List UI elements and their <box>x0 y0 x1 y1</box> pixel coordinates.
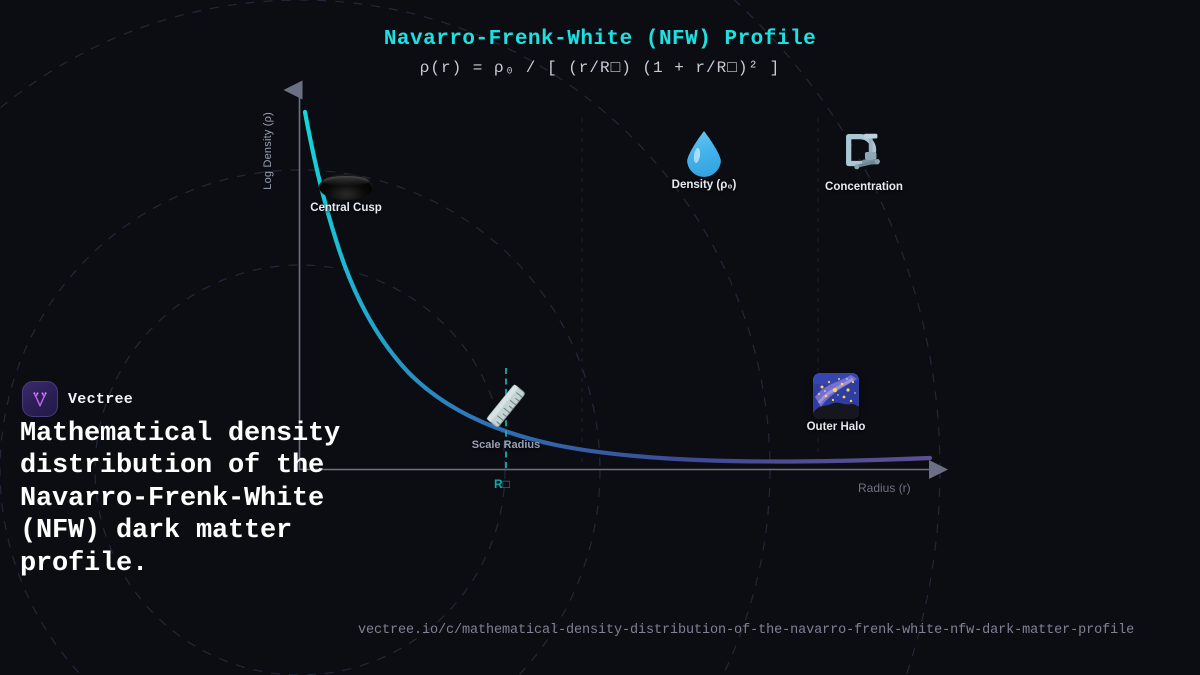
annotation-label: Density (ρ₀) <box>660 179 748 191</box>
x-tick-scale-radius: R□ <box>494 477 510 491</box>
footer-url: vectree.io/c/mathematical-density-distri… <box>358 623 1134 638</box>
brand-name: Vectree <box>68 391 133 408</box>
hole-icon <box>319 174 373 200</box>
vectree-logo-icon <box>22 381 58 417</box>
caption-text: Mathematical density distribution of the… <box>20 418 350 580</box>
annotation-concentration: Concentration <box>818 128 910 193</box>
ruler-icon <box>480 380 532 432</box>
annotation-label: Central Cusp <box>305 202 387 214</box>
annotation-scale-radius: Scale Radius <box>464 380 548 451</box>
brand-block: Vectree <box>22 381 133 417</box>
annotation-label: Scale Radius <box>464 439 548 451</box>
droplet-icon <box>687 131 721 177</box>
annotation-label: Outer Halo <box>792 421 880 433</box>
annotation-outer-halo: Outer Halo <box>792 373 880 433</box>
annotation-central-cusp: Central Cusp <box>305 174 387 214</box>
slide-canvas: Navarro-Frenk-White (NFW) Profile ρ(r) =… <box>0 0 1200 675</box>
x-axis-label: Radius (r) <box>858 481 911 495</box>
y-axis-label: Log Density (ρ) <box>262 112 274 190</box>
annotation-label: Concentration <box>818 181 910 193</box>
clamp-icon <box>841 128 887 174</box>
annotation-density: Density (ρ₀) <box>660 131 748 191</box>
galaxy-icon <box>813 373 859 419</box>
